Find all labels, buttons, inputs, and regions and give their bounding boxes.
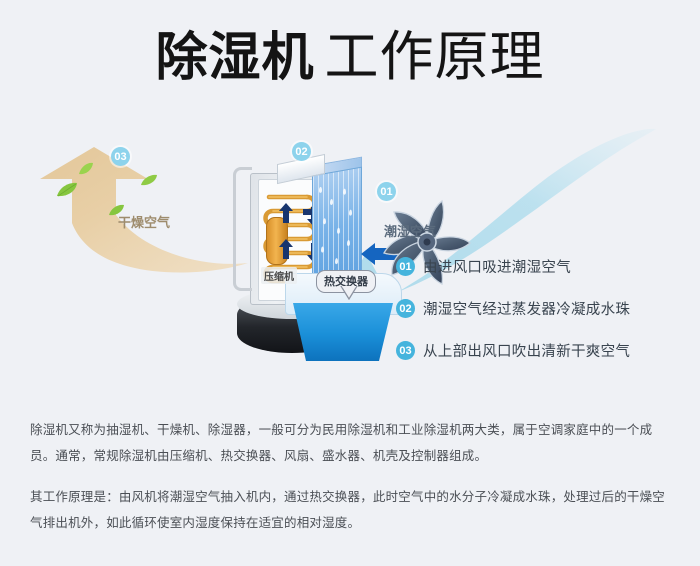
step-text-02: 潮湿空气经过蒸发器冷凝成水珠 (423, 298, 630, 319)
description-block: 除湿机又称为抽湿机、干燥机、除湿器，一般可分为民用除湿机和工业除湿机两大类，属于… (30, 418, 675, 537)
step-badge-02: 02 (396, 299, 415, 318)
step-text-01: 由进风口吸进潮湿空气 (423, 256, 571, 277)
compressor-label: 压缩机 (261, 267, 297, 284)
step-badge-01: 01 (396, 257, 415, 276)
step-item-03: 03 从上部出风口吹出清新干爽空气 (396, 340, 696, 361)
page-title-bold: 除湿机 (155, 29, 314, 87)
dry-air-arrow-icon (30, 145, 250, 270)
diagram-badge-01: 01 (377, 182, 396, 201)
leaf-icon (140, 174, 158, 187)
coolant-pipe (233, 167, 252, 291)
leaf-icon (78, 162, 94, 176)
step-item-01: 01 由进风口吸进潮湿空气 (396, 256, 696, 277)
step-text-03: 从上部出风口吹出清新干爽空气 (423, 340, 630, 361)
infographic-page: 除湿机工作原理 (0, 0, 700, 566)
water-tank-body: 水箱 (293, 303, 393, 361)
water-tank-label: 水箱 (331, 363, 353, 379)
diagram-badge-03: 03 (111, 147, 130, 166)
diagram-badge-02: 02 (292, 142, 311, 161)
humid-air-label: 潮湿空气 (384, 221, 436, 240)
callout-tail-icon (340, 286, 358, 300)
step-item-02: 02 潮湿空气经过蒸发器冷凝成水珠 (396, 298, 696, 319)
page-title: 除湿机工作原理 (0, 30, 700, 84)
page-title-light: 工作原理 (325, 27, 545, 87)
paragraph-2: 其工作原理是：由风机将潮湿空气抽入机内，通过热交换器，此时空气中的水分子冷凝成水… (30, 485, 675, 536)
paragraph-gap (30, 469, 675, 485)
dry-air-label: 干燥空气 (118, 212, 170, 231)
step-badge-03: 03 (396, 341, 415, 360)
leaf-icon (56, 182, 78, 198)
step-list: 01 由进风口吸进潮湿空气 02 潮湿空气经过蒸发器冷凝成水珠 03 从上部出风… (396, 256, 696, 382)
paragraph-1: 除湿机又称为抽湿机、干燥机、除湿器，一般可分为民用除湿机和工业除湿机两大类，属于… (30, 418, 675, 469)
